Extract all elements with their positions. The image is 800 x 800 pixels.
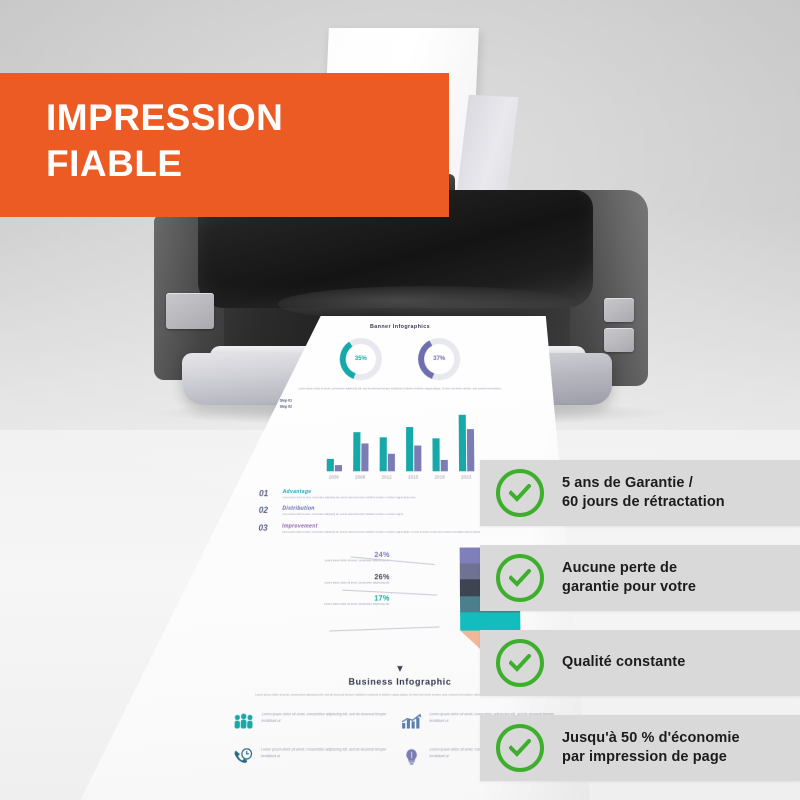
feature-label-line-1: Jusqu'à 50 % d'économie [562,730,740,746]
feature-label-line-2: par impression de page [562,749,727,765]
headline-line-1: IMPRESSION [46,95,283,141]
feature-label-line-1: Aucune perte de [562,560,677,576]
check-circle-icon [496,469,544,517]
check-circle-icon [496,639,544,687]
poster-canvas: Banner Infographics 35% 37% Lorem ipsum … [0,0,800,800]
check-circle-icon [496,724,544,772]
feature-label-line-2: garantie pour votre [562,579,696,595]
headline-banner: IMPRESSION FIABLE [0,73,449,217]
feature-label-line-1: 5 ans de Garantie / [562,475,693,491]
feature-label: Aucune perte degarantie pour votre [562,559,696,598]
feature-box[interactable]: 5 ans de Garantie /60 jours de rétractat… [480,460,800,526]
feature-list: 5 ans de Garantie /60 jours de rétractat… [480,460,800,800]
feature-box[interactable]: Aucune perte degarantie pour votre [480,545,800,611]
feature-label: 5 ans de Garantie /60 jours de rétractat… [562,474,725,513]
printer-button-top[interactable] [604,298,634,322]
headline-line-2: FIABLE [46,141,283,187]
feature-label: Qualité constante [562,653,685,672]
check-circle-icon [496,554,544,602]
printer-button-bottom[interactable] [604,328,634,352]
printer-power-button[interactable] [166,293,214,329]
feature-box[interactable]: Jusqu'à 50 % d'économiepar impression de… [480,715,800,781]
feature-label-line-1: Qualité constante [562,654,685,670]
headline-text: IMPRESSION FIABLE [46,95,283,188]
feature-box[interactable]: Qualité constante [480,630,800,696]
feature-label-line-2: 60 jours de rétractation [562,494,725,510]
feature-label: Jusqu'à 50 % d'économiepar impression de… [562,729,740,768]
